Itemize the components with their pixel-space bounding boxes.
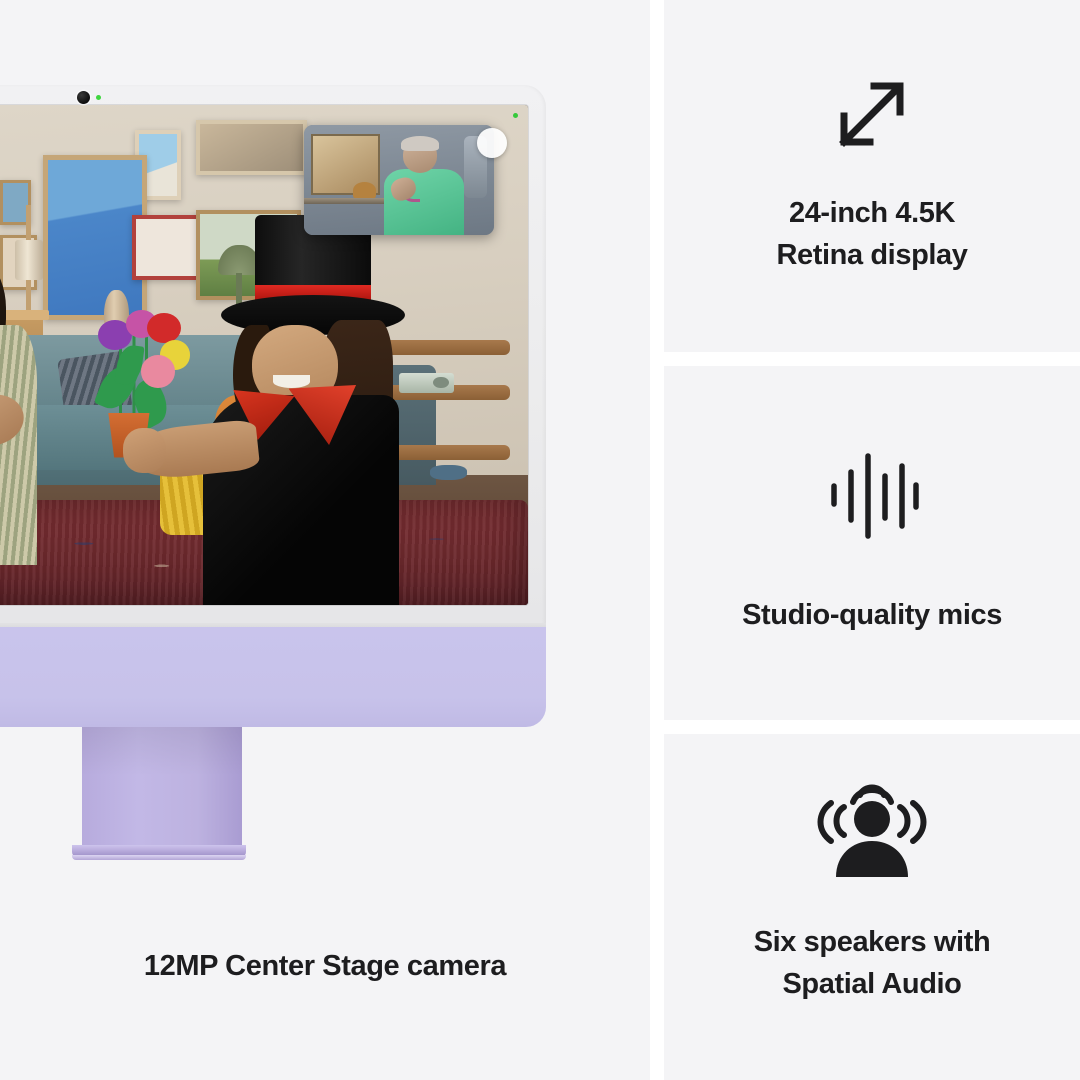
panel-retina-display: 24-inch 4.5K Retina display — [664, 0, 1080, 352]
spatial-audio-label: Six speakers with Spatial Audio — [754, 921, 991, 1005]
scene-girl-hand — [123, 428, 166, 473]
scene-dresser-top — [0, 310, 49, 320]
camera-indicator-light-icon — [96, 95, 101, 100]
facetime-control-button[interactable] — [477, 128, 507, 158]
scene-flower-bloom-light-pink — [141, 355, 175, 388]
panel-spatial-audio: Six speakers with Spatial Audio — [664, 734, 1080, 1080]
studio-mics-label: Studio-quality mics — [742, 594, 1002, 636]
scene-slipper — [430, 465, 467, 480]
facetime-pip-tile[interactable] — [304, 125, 494, 235]
panel-studio-mics: Studio-quality mics — [664, 366, 1080, 720]
imac-device — [0, 85, 546, 865]
scene-wall-art-red-frame — [132, 215, 206, 280]
center-stage-camera-icon — [77, 91, 90, 104]
scene-mother-shirt-right — [0, 325, 37, 565]
scene-flower-bloom-red — [147, 313, 181, 343]
imac-stand-foot-lip — [72, 855, 246, 860]
pip-person-hair — [401, 136, 439, 151]
scene-side-table-top — [375, 340, 510, 355]
pip-plant — [353, 182, 376, 199]
expand-arrows-icon — [824, 66, 920, 162]
panel-camera: 12MP Center Stage camera — [0, 0, 650, 1080]
imac-chin — [0, 627, 546, 727]
scene-girl-smile — [273, 375, 310, 388]
imac-stand-shading — [82, 727, 242, 849]
retina-display-label: 24-inch 4.5K Retina display — [776, 192, 967, 276]
imac-screen — [0, 105, 528, 605]
camera-feature-caption: 12MP Center Stage camera — [0, 950, 650, 983]
scene-radio — [399, 373, 454, 393]
spatial-audio-person-icon — [816, 773, 928, 885]
facetime-scene — [0, 105, 528, 605]
feature-grid: 12MP Center Stage camera 24-inch 4.5K Re… — [0, 0, 1080, 1080]
scene-floor-lamp-shade — [15, 240, 43, 280]
scene-wall-art-top — [196, 120, 307, 175]
audio-waveform-icon — [824, 446, 920, 542]
scene-side-table-low — [381, 445, 510, 460]
